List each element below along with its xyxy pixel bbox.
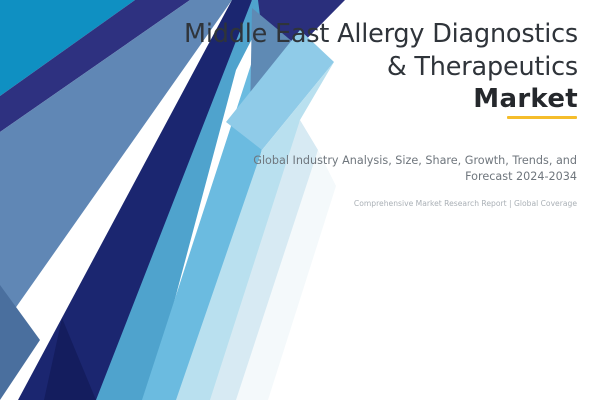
report-caption: Comprehensive Market Research Report | G… [217,198,577,210]
report-subtitle: Global Industry Analysis, Size, Share, G… [247,153,577,184]
accent-underline [507,116,577,119]
page-title: Middle East Allergy Diagnostics & Therap… [170,18,578,84]
cover-text-column: Middle East Allergy Diagnostics & Therap… [170,0,585,400]
market-heading: Market [473,84,578,114]
report-cover: Middle East Allergy Diagnostics & Therap… [0,0,600,400]
